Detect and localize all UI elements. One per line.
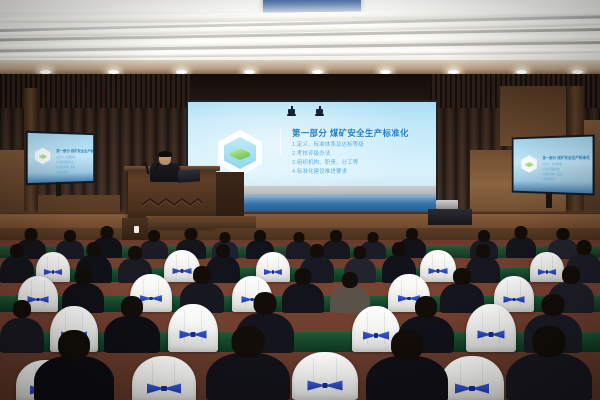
chair-bow [180,329,207,340]
slide-bullet-4: 4.标准化建设推进要求 [292,167,347,175]
side-slide-bullet: 4.推进要求 [56,170,68,174]
chair-bow [147,382,181,395]
side-slide-title: 第一部分 煤矿安全生产标准化 [542,156,590,162]
podium-shelf [146,216,256,228]
side-slide-title: 第一部分 煤矿安全生产标准化 [56,149,93,154]
chair-bow [44,268,62,276]
chair-bow [504,295,525,304]
side-slide-bullet: 4.推进要求 [542,177,554,181]
av-equipment-table [428,209,472,225]
presenter-at-podium [150,152,180,180]
slide-bullet-3: 3.组织机构、职责、分工等 [292,158,358,166]
side-slide-bullet: 1.定义、标准体系 [56,155,75,159]
conference-hall-photo: 第一部分 煤矿安全生产标准化 1.定义、标准体系及达标等级 2.考核评级办法 3… [0,0,600,400]
side-slide-bullet: 1.定义、标准体系 [542,162,562,166]
chair-bow [478,329,505,340]
chair-bow [264,268,282,276]
side-slide-bullet: 3.组织机构、职责 [56,165,75,169]
hexagon-cube-logo [521,155,536,173]
chair-with-cover [132,356,196,400]
side-slide-bullet: 3.组织机构、职责 [542,172,562,176]
attendee [34,330,114,400]
chair-bow [455,382,489,395]
projector-unit [436,200,458,209]
chair-with-cover [440,356,504,400]
monitor-stand [56,182,61,196]
attendee [206,326,290,400]
attendee [366,330,448,400]
side-slide-bullet: 2.考核评级办法 [56,160,73,164]
attendee [506,326,592,400]
water-cup [134,226,139,233]
slide-bullet-2: 2.考核评级办法 [292,149,330,157]
chair-with-cover [292,352,358,400]
side-monitor-right-screen: 第一部分 煤矿安全生产标准化 1.定义、标准体系 2.考核评级办法 3.组织机构… [514,137,593,194]
slide-bullet-1: 1.定义、标准体系及达标等级 [292,140,364,148]
side-slide-bullet: 2.考核评级办法 [542,167,559,171]
slide-divider [280,129,281,155]
stage-edge [0,210,600,214]
podium-laptop [178,169,200,183]
spotlight-fixture [288,106,295,117]
hexagon-cube-logo [218,130,262,176]
podium-zigzag-carving [140,196,204,208]
hexagon-cube-logo [35,148,50,165]
monitor-stand [546,192,552,208]
chair-bow [308,379,343,392]
slide-title: 第一部分 煤矿安全生产标准化 [292,127,409,140]
spotlight-fixture [316,106,323,117]
side-monitor-left-screen: 第一部分 煤矿安全生产标准化 1.定义、标准体系 2.考核评级办法 3.组织机构… [28,133,94,183]
